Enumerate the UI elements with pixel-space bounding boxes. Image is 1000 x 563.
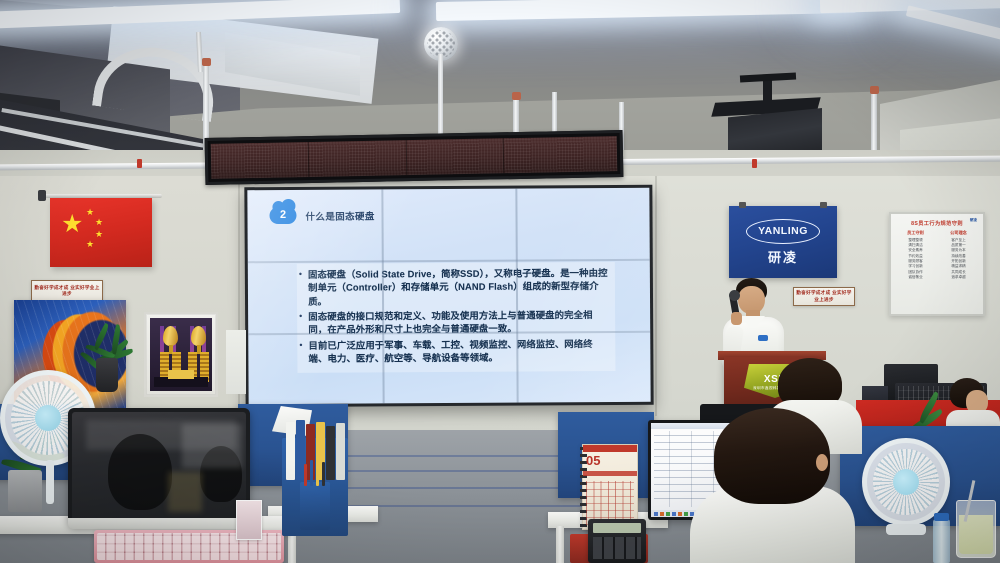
monitor-left-bezel-bottom bbox=[68, 518, 250, 529]
trophy-cabinet-interior bbox=[150, 318, 212, 391]
pen-holder bbox=[300, 482, 330, 530]
slide-body: • 固态硬盘（Solid State Drive，简称SSD），又称电子硬盘。是… bbox=[297, 262, 616, 373]
monitor-left[interactable] bbox=[68, 408, 250, 526]
person-seated-foreground bbox=[690, 408, 850, 563]
pipe-marker-3 bbox=[752, 159, 757, 168]
poster-title: 8S员工行为规范守则 bbox=[896, 220, 978, 227]
pipe-cap-1 bbox=[202, 58, 211, 66]
poster-column-heading: 员工守则 bbox=[896, 230, 935, 236]
trophy-nameplate bbox=[168, 370, 194, 379]
fan-hub bbox=[893, 469, 919, 495]
presenter-shirt-logo bbox=[758, 335, 768, 341]
flag-pole-cap bbox=[38, 190, 46, 201]
star-icon: ★ bbox=[86, 240, 94, 249]
presenter-hand bbox=[731, 312, 742, 325]
bullet-text: 固态硬盘（Solid State Drive，简称SSD），又称电子硬盘。是一种… bbox=[308, 266, 610, 308]
screen-reflection bbox=[182, 424, 242, 468]
slide-badge-number: 2 bbox=[280, 209, 286, 220]
poster-line: 追求卓越 bbox=[939, 275, 978, 280]
pipe-cap-3 bbox=[870, 86, 879, 94]
led-banner-screen bbox=[211, 136, 618, 179]
china-national-flag: ★ ★ ★ ★ ★ bbox=[50, 198, 152, 267]
poster-badge: 研凌 bbox=[970, 218, 977, 223]
person-hair bbox=[714, 408, 830, 504]
water-bottle bbox=[933, 519, 950, 563]
slide-bullet: • 固态硬盘（Solid State Drive，简称SSD），又称电子硬盘。是… bbox=[299, 266, 610, 308]
calligraphy-plaque-left: 勤奋好学成才成 业实好学业上进步 bbox=[31, 280, 103, 302]
star-icon: ★ bbox=[95, 230, 103, 239]
trophy-icon bbox=[191, 326, 206, 346]
microphone-head bbox=[729, 290, 740, 301]
slide-header: 2 什么是固态硬盘 bbox=[269, 206, 374, 224]
banner-clip bbox=[739, 202, 746, 208]
poster-line: 诚信敬业 bbox=[896, 275, 935, 280]
company-banner: YANLING 研凌 bbox=[729, 206, 837, 278]
calendar-month: 05 bbox=[586, 454, 600, 467]
cloud-icon: 2 bbox=[269, 207, 296, 224]
video-wall-screen[interactable]: 2 什么是固态硬盘 • 固态硬盘（Solid State Drive，简称SSD… bbox=[247, 188, 650, 404]
slide-title: 什么是固态硬盘 bbox=[305, 208, 374, 222]
desk-calendar: 05 bbox=[582, 444, 638, 530]
video-wall-display[interactable]: 2 什么是固态硬盘 • 固态硬盘（Solid State Drive，简称SSD… bbox=[244, 185, 653, 407]
pipe-cap-2 bbox=[512, 92, 521, 100]
wall-panel-small bbox=[226, 330, 246, 394]
screen-reflection bbox=[168, 472, 202, 512]
rules-poster: 研凌 8S员工行为规范守则 员工守则 整理整顿 清扫清洁 安全素养 节约效益 服… bbox=[889, 212, 985, 316]
plaque-text: 勤奋好学成才成 业实好学业上进步 bbox=[32, 285, 102, 297]
calligraphy-plaque-right: 勤奋好学成才成 业实好学业上进步 bbox=[793, 287, 855, 306]
banner-english-name: YANLING bbox=[758, 225, 808, 237]
poster-column-heading: 公司理念 bbox=[939, 230, 978, 236]
calendar-header-band bbox=[583, 445, 637, 452]
drinking-glass bbox=[956, 500, 996, 558]
bottle-cap bbox=[934, 513, 949, 521]
plant-pot-foreground bbox=[8, 470, 42, 512]
bullet-text: 目前已广泛应用于军事、车载、工控、视频监控、网络监控、网络终端、电力、医疗、航空… bbox=[308, 337, 610, 366]
photo-frame bbox=[236, 500, 262, 540]
led-scrolling-banner bbox=[205, 130, 624, 185]
bullet-marker: • bbox=[299, 339, 302, 366]
poster-column: 公司理念 客户至上 品质第一 服务为本 持续改善 开拓创新 精益求精 共同成长 … bbox=[939, 230, 978, 281]
slide-bullet: • 目前已广泛应用于军事、车载、工控、视频监控、网络监控、网络终端、电力、医疗、… bbox=[299, 337, 610, 366]
conference-room-scene: 2 什么是固态硬盘 • 固态硬盘（Solid State Drive，简称SSD… bbox=[0, 0, 1000, 563]
pipe-marker-1 bbox=[137, 159, 142, 168]
vase-left bbox=[96, 358, 118, 392]
screen-reflection-person bbox=[108, 434, 172, 510]
wall-seam-right bbox=[655, 176, 657, 416]
banner-clip bbox=[820, 202, 827, 208]
star-icon: ★ bbox=[61, 212, 83, 237]
calculator-icon[interactable] bbox=[588, 519, 646, 563]
monitor-left-screen[interactable] bbox=[72, 412, 246, 522]
person-ear bbox=[816, 454, 828, 471]
bullet-marker: • bbox=[299, 268, 302, 308]
star-icon: ★ bbox=[86, 208, 94, 217]
fan-hub bbox=[35, 405, 61, 431]
poster-columns: 员工守则 整理整顿 清扫清洁 安全素养 节约效益 服务顾客 学习创新 团队协作 … bbox=[896, 230, 978, 281]
calculator-keys[interactable] bbox=[593, 537, 641, 559]
plaque-text: 勤奋好学成才成 业实好学业上进步 bbox=[794, 290, 854, 302]
calendar-divider bbox=[583, 471, 637, 476]
fan-base bbox=[886, 524, 926, 535]
desk-leg bbox=[556, 526, 564, 563]
trophy-icon bbox=[163, 326, 178, 346]
fan-stem bbox=[46, 460, 54, 504]
poster-column: 员工守则 整理整顿 清扫清洁 安全素养 节约效益 服务顾客 学习创新 团队协作 … bbox=[896, 230, 935, 281]
star-icon: ★ bbox=[95, 218, 103, 227]
banner-chinese-name: 研凌 bbox=[768, 247, 798, 266]
trophy-cabinet bbox=[144, 312, 218, 397]
banner-logo-ring: YANLING bbox=[746, 219, 820, 244]
calculator-display bbox=[593, 523, 641, 533]
